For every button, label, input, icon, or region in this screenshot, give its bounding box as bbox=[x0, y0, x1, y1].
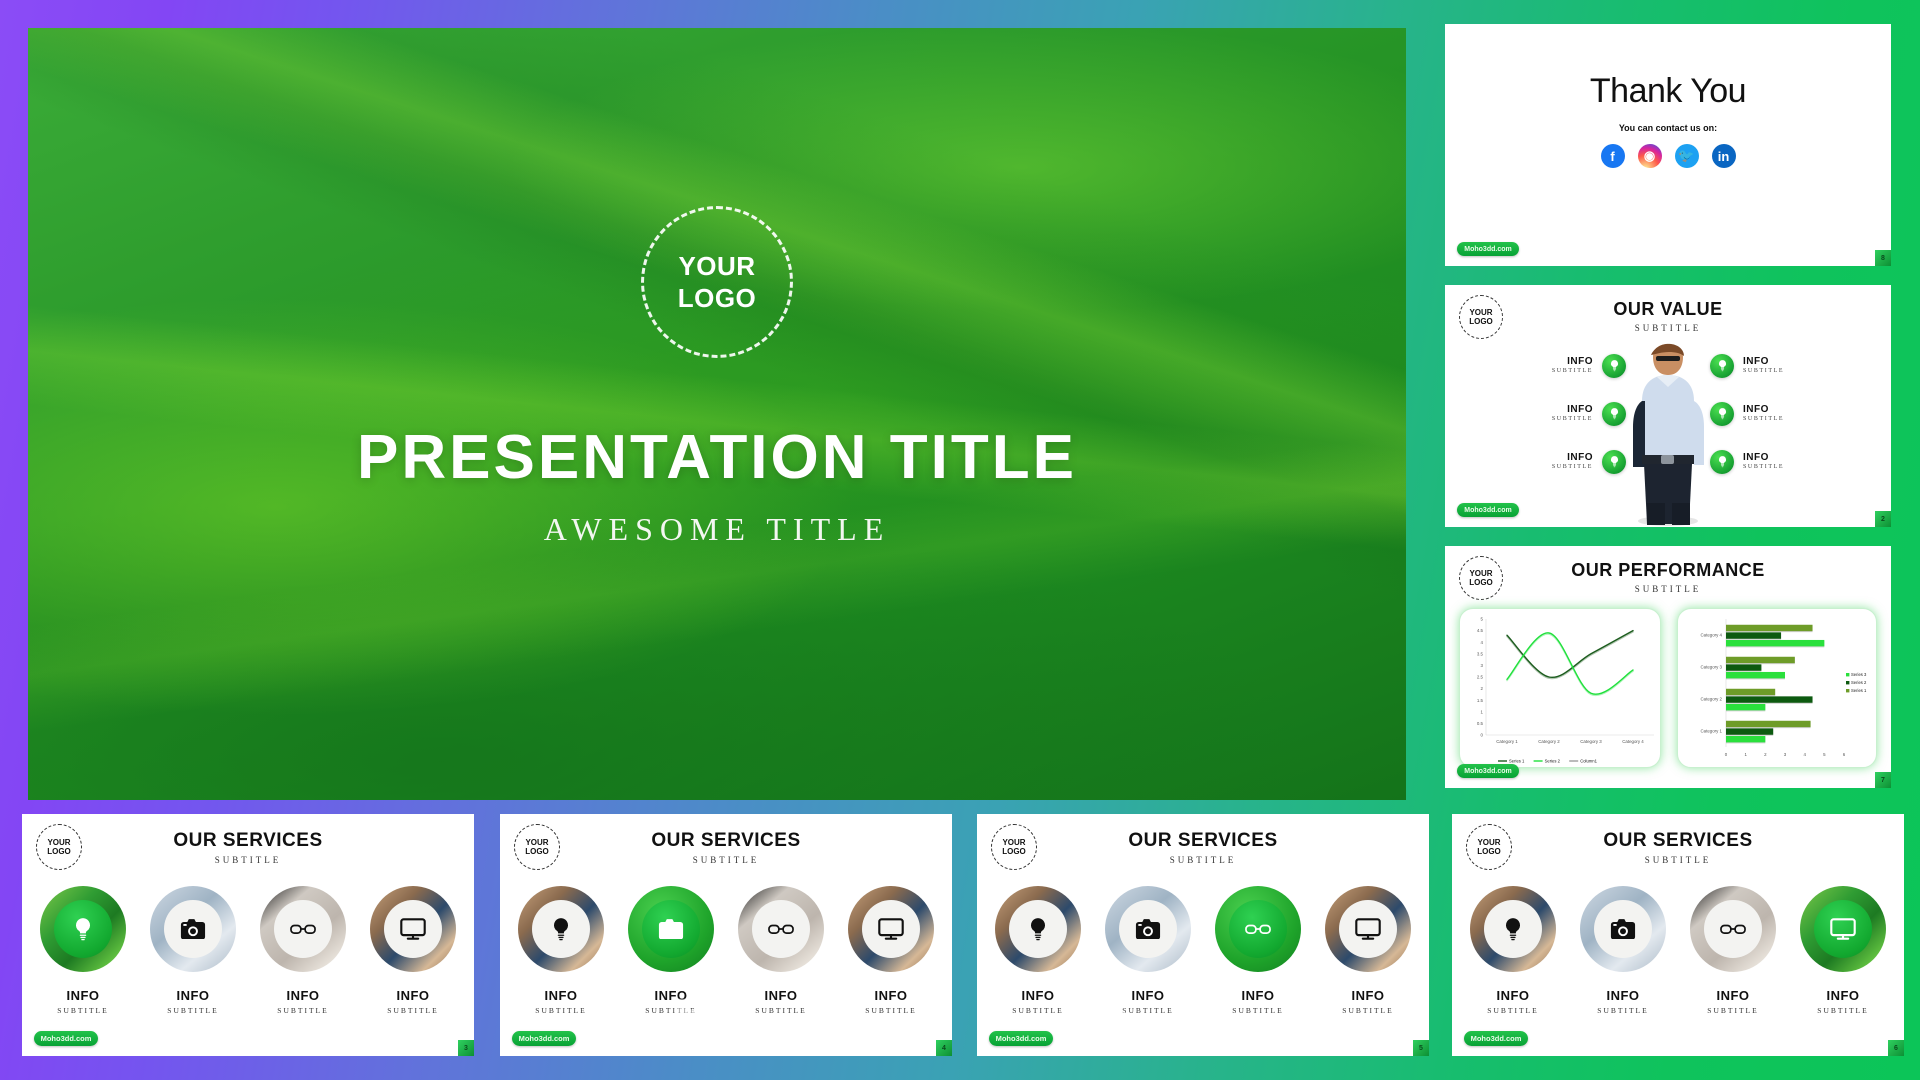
svg-text:Category 1: Category 1 bbox=[1701, 729, 1723, 734]
service-item[interactable]: INFOSUBTITLE bbox=[1324, 886, 1412, 1015]
service-photo-ring bbox=[1800, 886, 1886, 972]
service-photo-ring bbox=[995, 886, 1081, 972]
monitor-icon[interactable] bbox=[1814, 900, 1872, 958]
lightbulb-icon[interactable] bbox=[1009, 900, 1067, 958]
brand-badge[interactable]: Moho3dd.com bbox=[512, 1031, 576, 1046]
monitor-icon[interactable] bbox=[862, 900, 920, 958]
slide-number: 3 bbox=[458, 1040, 474, 1056]
service-label: INFOSUBTITLE bbox=[1597, 988, 1648, 1015]
value-item[interactable]: INFOSUBTITLE bbox=[1491, 347, 1626, 384]
slide-subtitle: SUBTITLE bbox=[1452, 855, 1904, 865]
logo-line2: LOGO bbox=[525, 847, 549, 856]
service-label: INFOSUBTITLE bbox=[57, 988, 108, 1015]
svg-text:4: 4 bbox=[1481, 640, 1484, 645]
service-subtitle: SUBTITLE bbox=[1597, 1006, 1648, 1015]
svg-text:Category 3: Category 3 bbox=[1701, 665, 1723, 670]
svg-text:0.5: 0.5 bbox=[1477, 721, 1484, 726]
service-subtitle: SUBTITLE bbox=[1487, 1006, 1538, 1015]
slide-number: 4 bbox=[936, 1040, 952, 1056]
value-item-title: INFO bbox=[1552, 356, 1593, 369]
logo-line2: LOGO bbox=[47, 847, 71, 856]
lightbulb-icon[interactable] bbox=[1484, 900, 1542, 958]
service-title: INFO bbox=[865, 988, 916, 1003]
service-label: INFOSUBTITLE bbox=[865, 988, 916, 1015]
svg-text:5: 5 bbox=[1823, 752, 1826, 757]
slide-number: 6 bbox=[1888, 1040, 1904, 1056]
value-item-text: INFOSUBTITLE bbox=[1552, 356, 1593, 376]
service-item[interactable]: INFOSUBTITLE bbox=[517, 886, 605, 1015]
value-item-subtitle: SUBTITLE bbox=[1743, 464, 1784, 472]
facebook-icon[interactable]: f bbox=[1601, 144, 1625, 168]
service-label: INFOSUBTITLE bbox=[1342, 988, 1393, 1015]
svg-text:Series 2: Series 2 bbox=[1545, 758, 1561, 763]
value-item-text: INFOSUBTITLE bbox=[1743, 452, 1784, 472]
service-title: INFO bbox=[387, 988, 438, 1003]
svg-text:1: 1 bbox=[1481, 709, 1484, 714]
camera-icon[interactable] bbox=[164, 900, 222, 958]
brand-badge[interactable]: Moho3dd.com bbox=[1457, 503, 1519, 517]
brand-badge[interactable]: Moho3dd.com bbox=[1457, 764, 1519, 778]
brand-badge[interactable]: Moho3dd.com bbox=[1464, 1031, 1528, 1046]
service-item[interactable]: INFOSUBTITLE bbox=[39, 886, 127, 1015]
linkedin-icon[interactable]: in bbox=[1712, 144, 1736, 168]
logo-line1: YOUR bbox=[1002, 838, 1025, 847]
slide-logo-placeholder: YOUR LOGO bbox=[1459, 556, 1503, 600]
slide-title: OUR SERVICES bbox=[977, 830, 1429, 852]
logo-line2: LOGO bbox=[1477, 847, 1501, 856]
service-subtitle: SUBTITLE bbox=[57, 1006, 108, 1015]
service-title: INFO bbox=[1122, 988, 1173, 1003]
service-subtitle: SUBTITLE bbox=[535, 1006, 586, 1015]
service-subtitle: SUBTITLE bbox=[865, 1006, 916, 1015]
brand-badge[interactable]: Moho3dd.com bbox=[34, 1031, 98, 1046]
slide-number: 8 bbox=[1875, 250, 1891, 266]
svg-text:Column1: Column1 bbox=[1580, 758, 1597, 763]
our-performance-slide[interactable]: YOUR LOGO OUR PERFORMANCE SUBTITLE 00.51… bbox=[1445, 546, 1891, 788]
hero-subtitle: AWESOME TITLE bbox=[544, 511, 890, 548]
svg-text:1: 1 bbox=[1744, 752, 1747, 757]
service-item[interactable]: INFOSUBTITLE bbox=[259, 886, 347, 1015]
hero-logo-line1: YOUR bbox=[678, 250, 755, 283]
slide-logo-placeholder: YOURLOGO bbox=[991, 824, 1037, 870]
camera-icon[interactable] bbox=[642, 900, 700, 958]
svg-text:2: 2 bbox=[1764, 752, 1767, 757]
service-item[interactable]: INFOSUBTITLE bbox=[369, 886, 457, 1015]
service-subtitle: SUBTITLE bbox=[1012, 1006, 1063, 1015]
service-label: INFOSUBTITLE bbox=[277, 988, 328, 1015]
logo-line1: YOUR bbox=[1469, 569, 1492, 578]
service-subtitle: SUBTITLE bbox=[277, 1006, 328, 1015]
slide-title: OUR PERFORMANCE bbox=[1445, 560, 1891, 581]
value-item-title: INFO bbox=[1552, 404, 1593, 417]
service-title: INFO bbox=[167, 988, 218, 1003]
our-services-slide-1[interactable]: YOURLOGOOUR SERVICESSUBTITLEINFOSUBTITLE… bbox=[22, 814, 474, 1056]
value-item[interactable]: INFOSUBTITLE bbox=[1491, 395, 1626, 432]
value-item[interactable]: INFOSUBTITLE bbox=[1710, 443, 1845, 480]
svg-text:Series 1: Series 1 bbox=[1509, 758, 1525, 763]
service-label: INFOSUBTITLE bbox=[755, 988, 806, 1015]
contact-text: You can contact us on: bbox=[1445, 123, 1891, 133]
svg-text:5: 5 bbox=[1481, 617, 1484, 622]
service-photo-ring bbox=[260, 886, 346, 972]
svg-text:2: 2 bbox=[1481, 686, 1484, 691]
slide-logo-placeholder: YOURLOGO bbox=[514, 824, 560, 870]
service-photo-ring bbox=[848, 886, 934, 972]
service-title: INFO bbox=[1707, 988, 1758, 1003]
service-photo-ring bbox=[1325, 886, 1411, 972]
svg-text:Category 3: Category 3 bbox=[1580, 739, 1602, 744]
service-subtitle: SUBTITLE bbox=[755, 1006, 806, 1015]
slide-logo-placeholder: YOURLOGO bbox=[1466, 824, 1512, 870]
svg-text:Category 4: Category 4 bbox=[1622, 739, 1644, 744]
value-list-right: INFOSUBTITLEINFOSUBTITLEINFOSUBTITLE bbox=[1710, 347, 1845, 491]
value-item-subtitle: SUBTITLE bbox=[1743, 368, 1784, 376]
service-photo-ring bbox=[628, 886, 714, 972]
service-photo-ring bbox=[1105, 886, 1191, 972]
service-label: INFOSUBTITLE bbox=[167, 988, 218, 1015]
value-item-text: INFOSUBTITLE bbox=[1743, 356, 1784, 376]
svg-text:0: 0 bbox=[1725, 752, 1728, 757]
svg-text:4: 4 bbox=[1803, 752, 1806, 757]
service-item[interactable]: INFOSUBTITLE bbox=[737, 886, 825, 1015]
logo-line1: YOUR bbox=[1469, 308, 1492, 317]
service-subtitle: SUBTITLE bbox=[167, 1006, 218, 1015]
service-photo-ring bbox=[738, 886, 824, 972]
service-title: INFO bbox=[57, 988, 108, 1003]
value-item-subtitle: SUBTITLE bbox=[1552, 416, 1593, 424]
svg-text:Series 1: Series 1 bbox=[1851, 688, 1867, 693]
svg-text:Category 4: Category 4 bbox=[1701, 633, 1723, 638]
value-item-text: INFOSUBTITLE bbox=[1552, 452, 1593, 472]
service-label: INFOSUBTITLE bbox=[1487, 988, 1538, 1015]
service-title: INFO bbox=[277, 988, 328, 1003]
logo-line2: LOGO bbox=[1469, 578, 1493, 587]
slide-subtitle: SUBTITLE bbox=[500, 855, 952, 865]
service-subtitle: SUBTITLE bbox=[387, 1006, 438, 1015]
svg-text:3.5: 3.5 bbox=[1477, 651, 1484, 656]
svg-text:Series 2: Series 2 bbox=[1851, 680, 1867, 685]
slide-number: 5 bbox=[1413, 1040, 1429, 1056]
service-subtitle: SUBTITLE bbox=[1122, 1006, 1173, 1015]
glasses-icon[interactable] bbox=[752, 900, 810, 958]
value-item-title: INFO bbox=[1743, 452, 1784, 465]
bar-chart[interactable]: 0123456Category 1Category 2Category 3Cat… bbox=[1677, 608, 1877, 768]
services-list: INFOSUBTITLEINFOSUBTITLEINFOSUBTITLEINFO… bbox=[22, 886, 474, 1015]
slide-title: OUR SERVICES bbox=[500, 830, 952, 852]
slide-logo-placeholder: YOURLOGO bbox=[36, 824, 82, 870]
logo-line1: YOUR bbox=[525, 838, 548, 847]
thank-you-slide[interactable]: Thank You You can contact us on: f◉🐦in M… bbox=[1445, 24, 1891, 266]
twitter-icon[interactable]: 🐦 bbox=[1675, 144, 1699, 168]
service-photo-ring bbox=[40, 886, 126, 972]
svg-text:Series 3: Series 3 bbox=[1851, 672, 1867, 677]
glasses-icon[interactable] bbox=[274, 900, 332, 958]
svg-text:Category 2: Category 2 bbox=[1538, 739, 1560, 744]
instagram-icon[interactable]: ◉ bbox=[1638, 144, 1662, 168]
brand-badge[interactable]: Moho3dd.com bbox=[989, 1031, 1053, 1046]
slide-subtitle: SUBTITLE bbox=[1445, 323, 1891, 333]
service-label: INFOSUBTITLE bbox=[1012, 988, 1063, 1015]
hero-title: PRESENTATION TITLE bbox=[357, 422, 1077, 493]
slide-title: OUR SERVICES bbox=[1452, 830, 1904, 852]
value-item[interactable]: INFOSUBTITLE bbox=[1710, 395, 1845, 432]
service-title: INFO bbox=[1817, 988, 1868, 1003]
slide-title: OUR SERVICES bbox=[22, 830, 474, 852]
value-item-title: INFO bbox=[1743, 356, 1784, 369]
person-photo bbox=[1620, 343, 1716, 527]
slide-title: OUR VALUE bbox=[1445, 299, 1891, 320]
slide-subtitle: SUBTITLE bbox=[977, 855, 1429, 865]
svg-text:3: 3 bbox=[1481, 663, 1484, 668]
service-title: INFO bbox=[1597, 988, 1648, 1003]
service-item[interactable]: INFOSUBTITLE bbox=[1579, 886, 1667, 1015]
hero-logo-line2: LOGO bbox=[678, 282, 757, 315]
service-title: INFO bbox=[1012, 988, 1063, 1003]
service-label: INFOSUBTITLE bbox=[1817, 988, 1868, 1015]
service-subtitle: SUBTITLE bbox=[1342, 1006, 1393, 1015]
logo-line2: LOGO bbox=[1002, 847, 1026, 856]
service-item[interactable]: INFOSUBTITLE bbox=[1104, 886, 1192, 1015]
brand-badge[interactable]: Moho3dd.com bbox=[1457, 242, 1519, 256]
service-item[interactable]: INFOSUBTITLE bbox=[994, 886, 1082, 1015]
svg-text:6: 6 bbox=[1843, 752, 1846, 757]
service-label: INFOSUBTITLE bbox=[1707, 988, 1758, 1015]
value-item[interactable]: INFOSUBTITLE bbox=[1710, 347, 1845, 384]
hero-logo-placeholder: YOUR LOGO bbox=[641, 206, 793, 358]
svg-text:4.5: 4.5 bbox=[1477, 628, 1484, 633]
services-list: INFOSUBTITLEINFOSUBTITLEINFOSUBTITLEINFO… bbox=[500, 886, 952, 1015]
svg-text:0: 0 bbox=[1481, 733, 1484, 738]
lightbulb-icon[interactable] bbox=[532, 900, 590, 958]
svg-text:Category 1: Category 1 bbox=[1496, 739, 1518, 744]
service-label: INFOSUBTITLE bbox=[1122, 988, 1173, 1015]
service-label: INFOSUBTITLE bbox=[387, 988, 438, 1015]
camera-icon[interactable] bbox=[1119, 900, 1177, 958]
value-item-subtitle: SUBTITLE bbox=[1552, 368, 1593, 376]
our-services-slide-4[interactable]: YOURLOGOOUR SERVICESSUBTITLEINFOSUBTITLE… bbox=[1452, 814, 1904, 1056]
slide-number: 2 bbox=[1875, 511, 1891, 527]
service-item[interactable]: INFOSUBTITLE bbox=[1689, 886, 1777, 1015]
service-title: INFO bbox=[755, 988, 806, 1003]
service-photo-ring bbox=[518, 886, 604, 972]
logo-line1: YOUR bbox=[47, 838, 70, 847]
line-chart[interactable]: 00.511.522.533.544.55Category 1Category … bbox=[1459, 608, 1661, 768]
service-item[interactable]: INFOSUBTITLE bbox=[627, 886, 715, 1015]
service-item[interactable]: INFOSUBTITLE bbox=[1469, 886, 1557, 1015]
logo-line2: LOGO bbox=[1469, 317, 1493, 326]
service-label: INFOSUBTITLE bbox=[535, 988, 586, 1015]
service-label: INFOSUBTITLE bbox=[645, 988, 696, 1015]
service-label: INFOSUBTITLE bbox=[1232, 988, 1283, 1015]
value-item-text: INFOSUBTITLE bbox=[1743, 404, 1784, 424]
svg-text:3: 3 bbox=[1784, 752, 1787, 757]
service-title: INFO bbox=[645, 988, 696, 1003]
service-title: INFO bbox=[1232, 988, 1283, 1003]
thank-you-title: Thank You bbox=[1445, 72, 1891, 111]
svg-text:1.5: 1.5 bbox=[1477, 698, 1484, 703]
value-item-title: INFO bbox=[1552, 452, 1593, 465]
monitor-icon[interactable] bbox=[1339, 900, 1397, 958]
glasses-icon[interactable] bbox=[1704, 900, 1762, 958]
service-title: INFO bbox=[535, 988, 586, 1003]
monitor-icon[interactable] bbox=[384, 900, 442, 958]
value-item-text: INFOSUBTITLE bbox=[1552, 404, 1593, 424]
logo-line1: YOUR bbox=[1477, 838, 1500, 847]
service-photo-ring bbox=[1690, 886, 1776, 972]
service-subtitle: SUBTITLE bbox=[1707, 1006, 1758, 1015]
slide-logo-placeholder: YOUR LOGO bbox=[1459, 295, 1503, 339]
service-subtitle: SUBTITLE bbox=[1232, 1006, 1283, 1015]
slide-subtitle: SUBTITLE bbox=[1445, 584, 1891, 594]
service-photo-ring bbox=[1215, 886, 1301, 972]
service-title: INFO bbox=[1342, 988, 1393, 1003]
service-item[interactable]: INFOSUBTITLE bbox=[1799, 886, 1887, 1015]
value-item-title: INFO bbox=[1743, 404, 1784, 417]
services-list: INFOSUBTITLEINFOSUBTITLEINFOSUBTITLEINFO… bbox=[1452, 886, 1904, 1015]
service-photo-ring bbox=[1470, 886, 1556, 972]
value-item-subtitle: SUBTITLE bbox=[1552, 464, 1593, 472]
slide-number: 7 bbox=[1875, 772, 1891, 788]
title-slide[interactable]: YOUR LOGO PRESENTATION TITLE AWESOME TIT… bbox=[28, 28, 1406, 800]
our-services-slide-2[interactable]: YOURLOGOOUR SERVICESSUBTITLEINFOSUBTITLE… bbox=[500, 814, 952, 1056]
service-photo-ring bbox=[150, 886, 236, 972]
service-item[interactable]: INFOSUBTITLE bbox=[847, 886, 935, 1015]
service-item[interactable]: INFOSUBTITLE bbox=[1214, 886, 1302, 1015]
service-subtitle: SUBTITLE bbox=[645, 1006, 696, 1015]
our-value-slide[interactable]: YOUR LOGO OUR VALUE SUBTITLE INFOSUBTITL… bbox=[1445, 285, 1891, 527]
service-title: INFO bbox=[1487, 988, 1538, 1003]
service-subtitle: SUBTITLE bbox=[1817, 1006, 1868, 1015]
svg-text:2.5: 2.5 bbox=[1477, 675, 1484, 680]
service-item[interactable]: INFOSUBTITLE bbox=[149, 886, 237, 1015]
social-links: f◉🐦in bbox=[1445, 144, 1891, 168]
slide-subtitle: SUBTITLE bbox=[22, 855, 474, 865]
services-list: INFOSUBTITLEINFOSUBTITLEINFOSUBTITLEINFO… bbox=[977, 886, 1429, 1015]
value-list-left: INFOSUBTITLEINFOSUBTITLEINFOSUBTITLE bbox=[1491, 347, 1626, 491]
value-item-subtitle: SUBTITLE bbox=[1743, 416, 1784, 424]
camera-icon[interactable] bbox=[1594, 900, 1652, 958]
glasses-icon[interactable] bbox=[1229, 900, 1287, 958]
lightbulb-icon[interactable] bbox=[54, 900, 112, 958]
value-item[interactable]: INFOSUBTITLE bbox=[1491, 443, 1626, 480]
our-services-slide-3[interactable]: YOURLOGOOUR SERVICESSUBTITLEINFOSUBTITLE… bbox=[977, 814, 1429, 1056]
service-photo-ring bbox=[1580, 886, 1666, 972]
svg-text:Category 2: Category 2 bbox=[1701, 697, 1723, 702]
service-photo-ring bbox=[370, 886, 456, 972]
